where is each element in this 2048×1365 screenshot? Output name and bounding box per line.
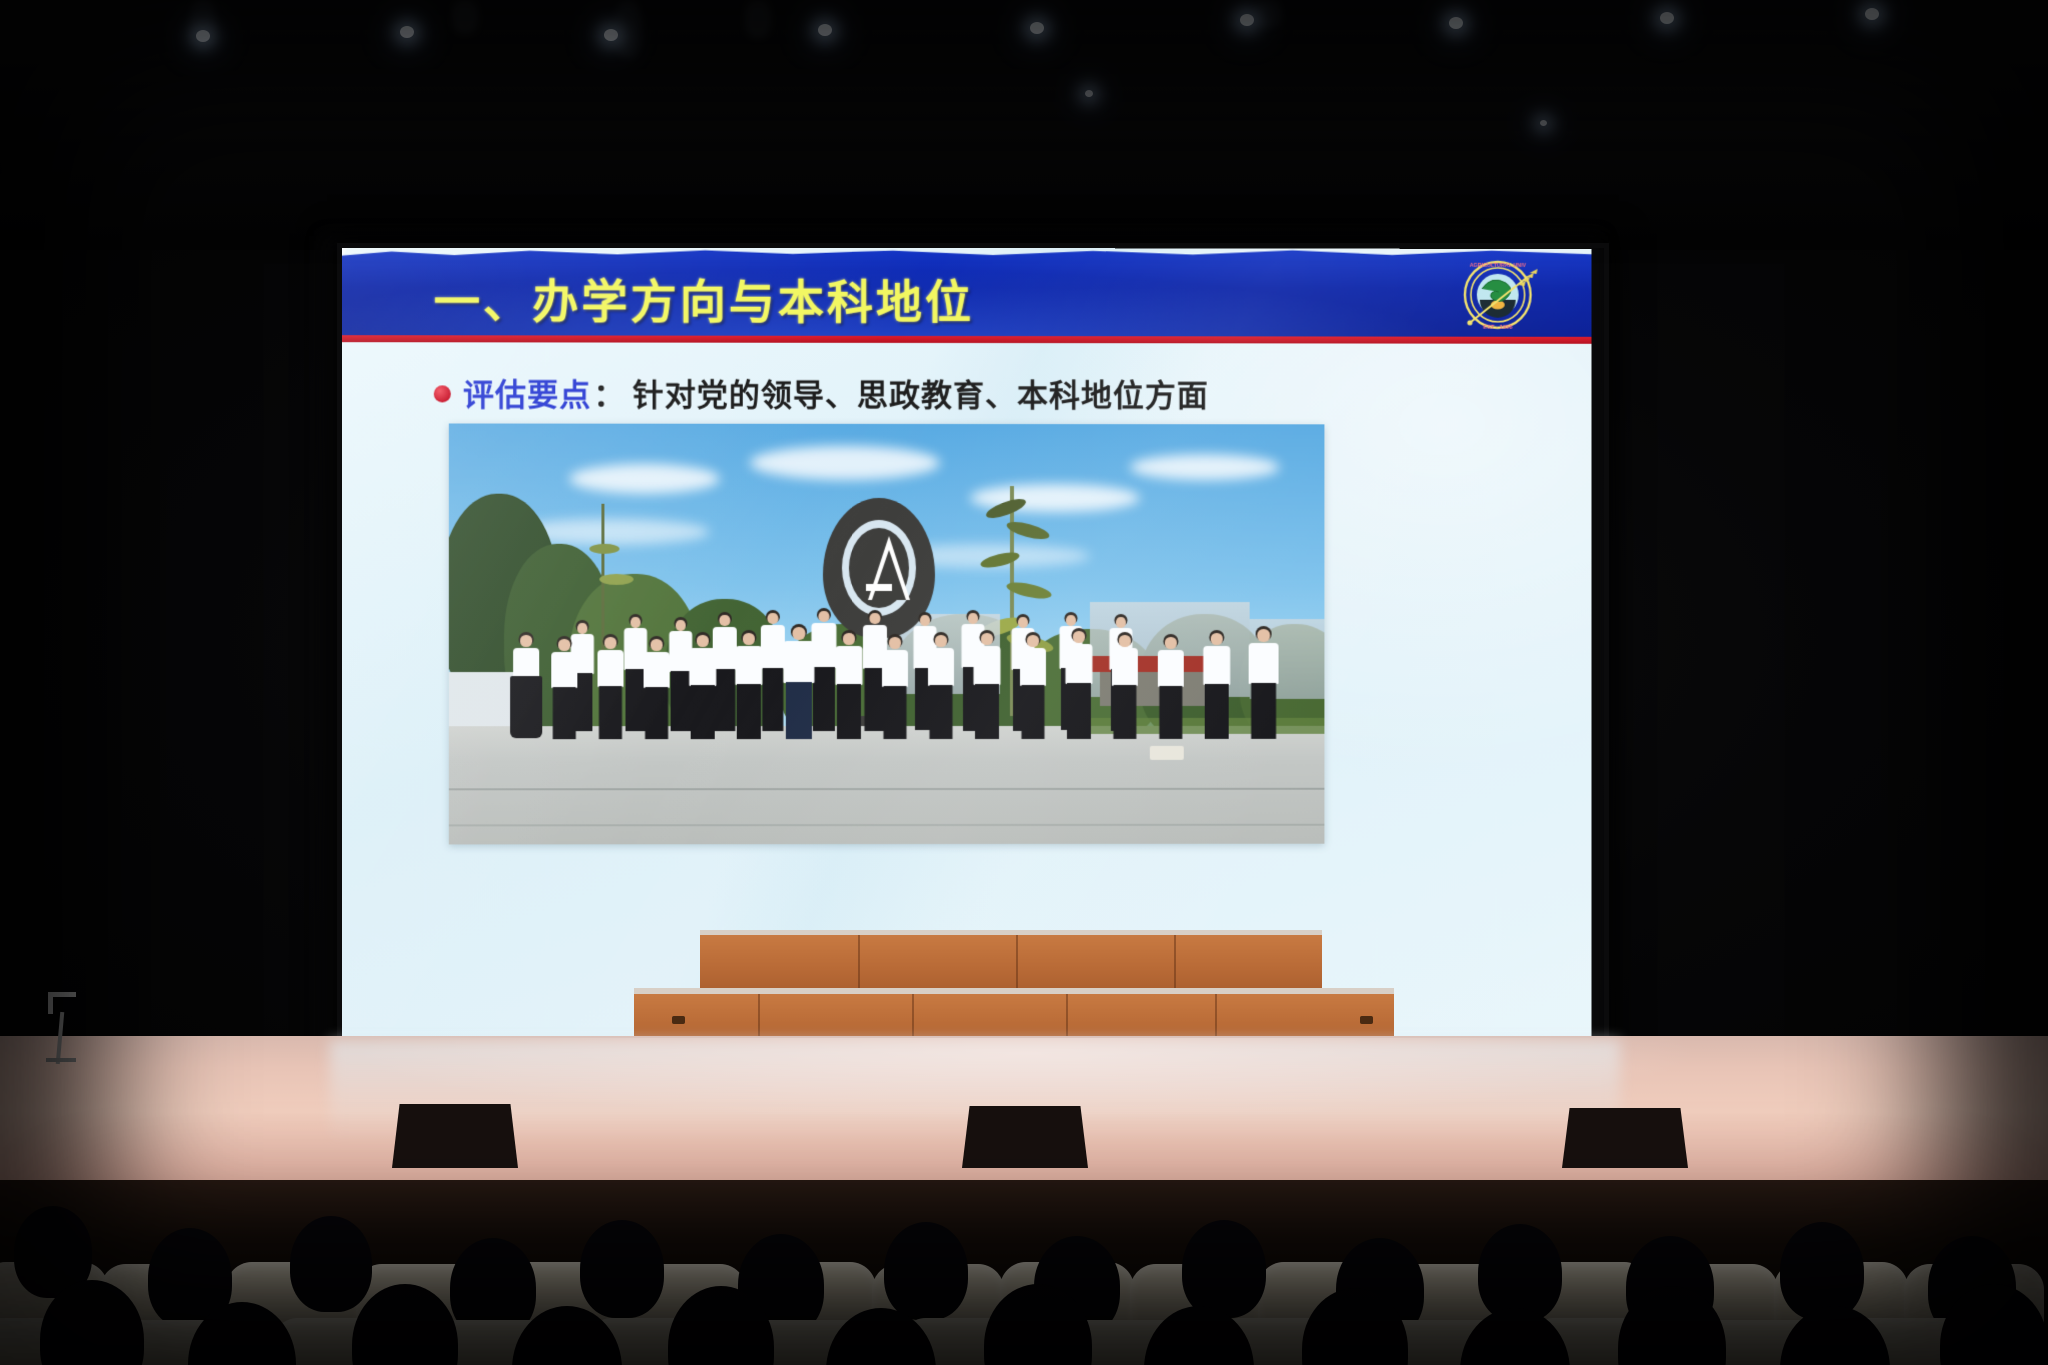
ceiling-light bbox=[1449, 17, 1463, 29]
svg-text:EST · 1958: EST · 1958 bbox=[1483, 325, 1513, 331]
seated-audience bbox=[0, 1180, 2048, 1365]
university-emblem-logo: AGRICULTURAL UNIV EST · 1958 bbox=[1456, 255, 1544, 337]
campus-group-photo bbox=[449, 423, 1325, 844]
ceiling-light bbox=[1240, 14, 1254, 26]
music-stand-pole bbox=[56, 1012, 65, 1064]
stage-monitor-speaker bbox=[962, 1106, 1088, 1168]
riser-handle-hole bbox=[672, 1016, 685, 1024]
projection-screen: 一、办学方向与本科地位 bbox=[341, 247, 1591, 1049]
photo-haze bbox=[449, 423, 1325, 844]
bullet-dot-icon bbox=[434, 385, 451, 402]
slide-title: 一、办学方向与本科地位 bbox=[434, 265, 974, 332]
ceiling-fixture bbox=[745, 0, 771, 38]
svg-text:AGRICULTURAL UNIV: AGRICULTURAL UNIV bbox=[1470, 263, 1527, 269]
audience-head bbox=[884, 1222, 968, 1320]
audience-head bbox=[290, 1216, 372, 1312]
bullet-value: 针对党的领导、思政教育、本科地位方面 bbox=[633, 370, 1209, 416]
audience-head bbox=[580, 1220, 664, 1318]
ceiling-fixture bbox=[190, 0, 216, 46]
ceiling-light bbox=[1085, 90, 1093, 97]
audience-head bbox=[1780, 1222, 1864, 1320]
music-stand-tray-lip bbox=[48, 992, 53, 1014]
audience-head bbox=[1182, 1220, 1266, 1318]
riser-handle-hole bbox=[1360, 1016, 1373, 1024]
presentation-slide: 一、办学方向与本科地位 bbox=[341, 247, 1591, 1049]
ceiling bbox=[0, 0, 2048, 250]
ceiling-light bbox=[818, 24, 832, 36]
music-stand bbox=[48, 992, 94, 1064]
ceiling-fixture bbox=[452, 0, 478, 34]
ceiling-fixture bbox=[615, 0, 641, 58]
ceiling-light bbox=[400, 26, 414, 38]
ceiling-fixture bbox=[1255, 0, 1281, 28]
slide-bullet-row: 评估要点 ： 针对党的领导、思政教育、本科地位方面 bbox=[434, 369, 1209, 415]
music-stand-base bbox=[46, 1058, 76, 1062]
ceiling-light bbox=[1865, 8, 1879, 20]
stage-monitor-speaker bbox=[1562, 1108, 1688, 1168]
auditorium-scene: 一、办学方向与本科地位 bbox=[0, 0, 2048, 1365]
bullet-key: 评估要点 bbox=[463, 369, 591, 414]
ceiling-light bbox=[1660, 12, 1674, 24]
bullet-separator: ： bbox=[593, 370, 624, 415]
ceiling-light bbox=[1030, 22, 1044, 34]
stage-monitor-speaker bbox=[392, 1104, 518, 1168]
ceiling-light bbox=[1540, 120, 1547, 126]
